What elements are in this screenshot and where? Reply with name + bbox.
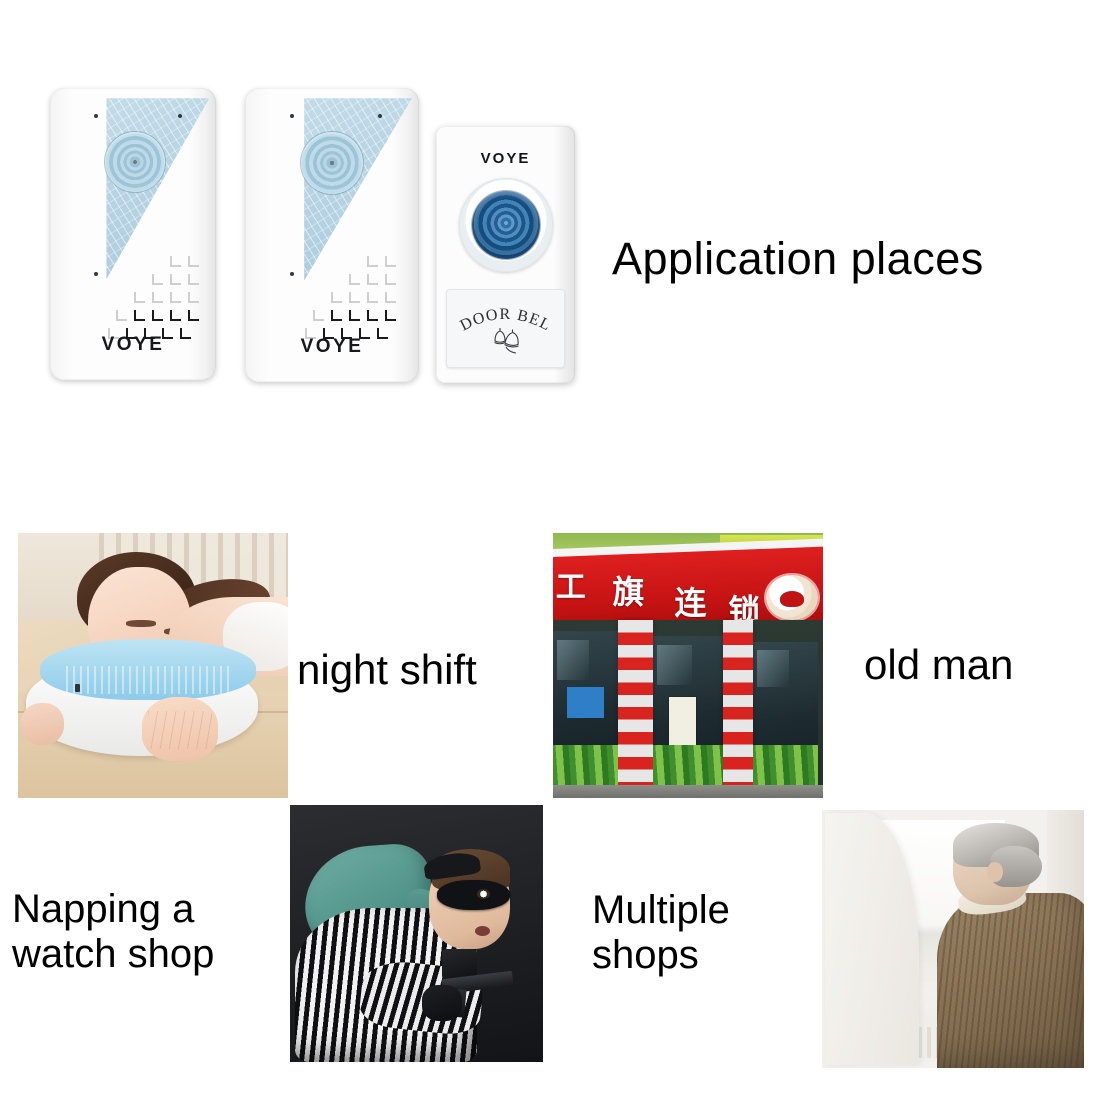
push-button-brand-label: VOYE	[436, 150, 575, 167]
woman-closed-eye	[126, 620, 156, 626]
receiver-speaker-dome	[105, 132, 165, 192]
wireless-doorbell-receiver-1: VOYE	[50, 88, 216, 380]
woman-second-hand	[21, 703, 64, 745]
storefront-white-poster	[669, 697, 696, 750]
storefront-pavement	[553, 785, 823, 798]
burglar-mouth	[475, 926, 490, 936]
old-man-ear	[987, 862, 1003, 883]
storefront-logo-badge	[766, 575, 817, 620]
sign-character-2: 旗	[612, 567, 644, 613]
headline-application-places: Application places	[612, 234, 984, 284]
pillow-tag	[75, 684, 80, 692]
marketing-image-canvas: VOYE VOYE VOYE DOOR BELL	[0, 0, 1100, 1100]
receiver-screw-dot-top-left	[290, 114, 294, 118]
burglar-eye	[477, 889, 490, 900]
receiver-screw-dot-top-left	[94, 114, 98, 118]
receiver-speaker-dome	[301, 132, 363, 194]
woman-hand	[142, 697, 218, 761]
receiver-brand-label: VOYE	[50, 334, 216, 356]
chinese-chain-storefront-photo: 工 旗 连 锁	[553, 533, 823, 798]
scenario-label-old-man: old man	[864, 641, 1013, 688]
doorbell-push-button: VOYE DOOR BELL	[436, 126, 575, 383]
doorbell-press-button-icon[interactable]	[472, 191, 540, 259]
pillow-blue-top	[40, 639, 256, 700]
sign-character-1: 工	[556, 562, 586, 606]
sign-character-3: 连	[675, 578, 707, 624]
scenario-label-multiple-shops: Multiple shops	[592, 888, 730, 978]
storefront-blue-poster	[567, 687, 605, 719]
receiver-speaker-grille	[305, 256, 405, 334]
receiver-speaker-grille	[108, 256, 206, 334]
old-man-cardigan	[937, 893, 1084, 1068]
burglar-black-glove	[422, 985, 462, 1021]
receiver-screw-dot-bottom-left	[290, 272, 294, 276]
scenario-label-napping-watch-shop: Napping a watch shop	[12, 887, 214, 977]
masked-burglar-with-sack-photo	[290, 805, 543, 1062]
wireless-doorbell-receiver-2: VOYE	[245, 88, 419, 382]
receiver-screw-dot-top-right	[178, 114, 182, 118]
elderly-man-at-window-photo	[822, 810, 1084, 1068]
woman-napping-on-pillow-photo	[18, 533, 288, 798]
receiver-screw-dot-bottom-left	[94, 272, 98, 276]
scenario-label-night-shift: night shift	[297, 646, 477, 693]
storefront-striped-column-2	[723, 620, 753, 798]
door-bell-plate-text: DOOR BELL	[446, 289, 554, 335]
door-bell-name-plate: DOOR BELL	[446, 289, 565, 368]
burglar-eye-mask	[437, 880, 510, 911]
svg-text:DOOR BELL: DOOR BELL	[446, 289, 554, 335]
twin-bells-icon	[495, 328, 519, 353]
storefront-striped-column-1	[618, 620, 653, 798]
receiver-screw-dot-top-right	[378, 114, 382, 118]
receiver-brand-label: VOYE	[245, 336, 419, 358]
